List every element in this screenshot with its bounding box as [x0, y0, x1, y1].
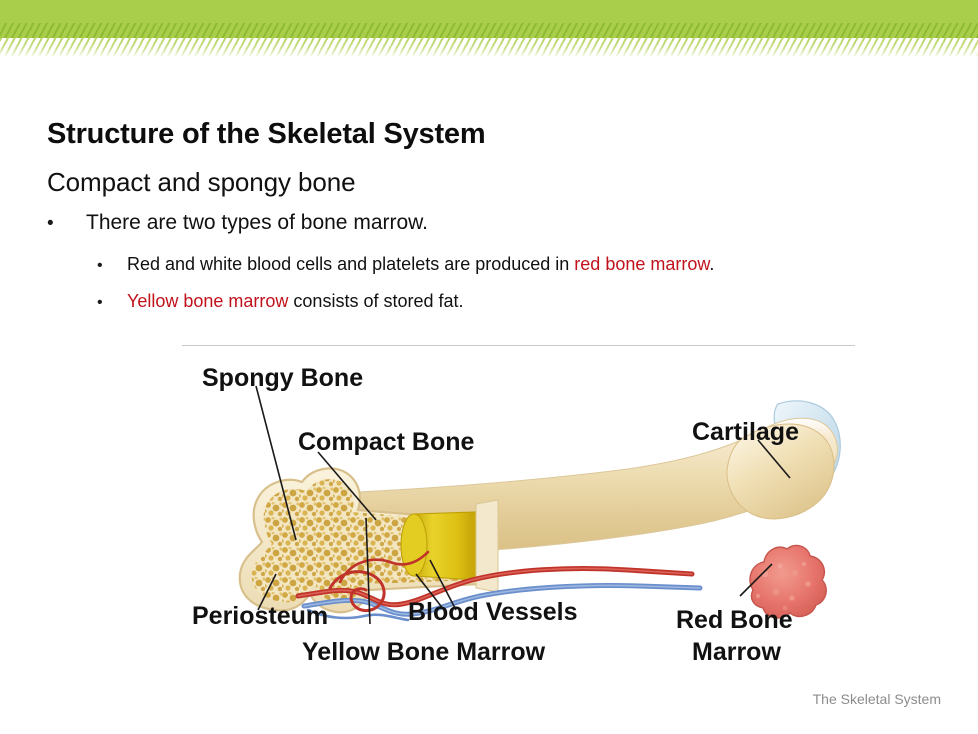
- horizontal-divider-rule: [182, 345, 855, 346]
- highlight-red-bone-marrow: red bone marrow: [574, 254, 709, 274]
- bullet-item-level2-yellow-marrow: • Yellow bone marrow consists of stored …: [97, 291, 464, 312]
- slide-footer-label: The Skeletal System: [0, 691, 941, 707]
- header-solid-green-bar: [0, 0, 978, 23]
- bullet-level2b-suffix: consists of stored fat.: [288, 291, 463, 311]
- label-yellow-bone-marrow: Yellow Bone Marrow: [302, 638, 546, 666]
- yellow-bone-marrow-cavity: [401, 512, 484, 580]
- label-cartilage: Cartilage: [692, 418, 799, 446]
- label-blood-vessels: Blood Vessels: [408, 598, 578, 626]
- label-red-bone-marrow-line1: Red Bone: [676, 606, 793, 634]
- bullet-level2a-prefix: Red and white blood cells and platelets …: [127, 254, 574, 274]
- highlight-yellow-bone-marrow: Yellow bone marrow: [127, 291, 288, 311]
- label-compact-bone: Compact Bone: [298, 428, 475, 456]
- bone-anatomy-figure: Spongy Bone Compact Bone Periosteum Yell…: [180, 352, 860, 672]
- bullet-level2a-group: Red and white blood cells and platelets …: [127, 254, 714, 275]
- bullet-marker-icon: •: [47, 214, 86, 233]
- bullet-level2a-suffix: .: [709, 254, 714, 274]
- page-title: Structure of the Skeletal System: [47, 118, 485, 151]
- header-stripe-fade-overlay: [0, 38, 978, 56]
- label-periosteum: Periosteum: [192, 602, 328, 630]
- label-red-bone-marrow-line2: Marrow: [692, 638, 781, 666]
- bullet-item-level1: • There are two types of bone marrow.: [47, 211, 428, 235]
- page-subtitle: Compact and spongy bone: [47, 167, 355, 198]
- header-dark-diagonal-stripes: [0, 23, 978, 38]
- bullet-marker-icon: •: [97, 258, 127, 274]
- bullet-level2b-group: Yellow bone marrow consists of stored fa…: [127, 291, 464, 312]
- decorative-header-band: [0, 0, 978, 56]
- bullet-marker-icon: •: [97, 295, 127, 311]
- label-spongy-bone: Spongy Bone: [202, 364, 363, 392]
- bullet-item-level2-red-marrow: • Red and white blood cells and platelet…: [97, 254, 714, 275]
- bullet-level1-text: There are two types of bone marrow.: [86, 211, 428, 235]
